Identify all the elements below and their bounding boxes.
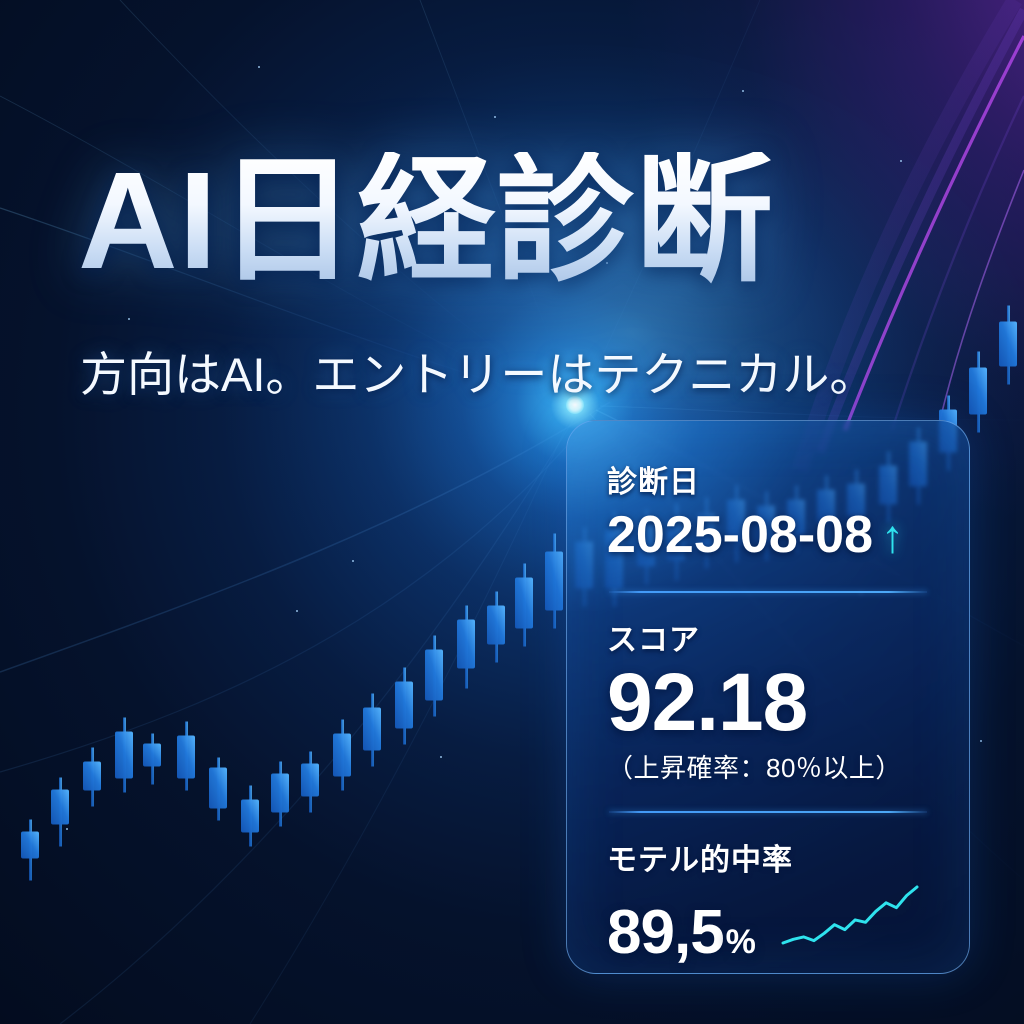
date-label: 診断日 bbox=[607, 457, 929, 501]
page-subtitle: 方向はAI。エントリーはテクニカル。 bbox=[80, 336, 876, 405]
accuracy-unit: % bbox=[726, 923, 755, 961]
accuracy-label: モテル的中率 bbox=[607, 835, 929, 879]
poster-canvas: AI日経診断 方向はAI。エントリーはテクニカル。 診断日 2025-08-08… bbox=[0, 0, 1024, 1024]
accuracy-value-row: 89,5% bbox=[607, 897, 755, 968]
score-label: スコア bbox=[607, 615, 929, 659]
diagnosis-info-card: 診断日 2025-08-08↑ スコア 92.18 （上昇確率：80％以上） モ… bbox=[566, 420, 970, 974]
score-value: 92.18 bbox=[607, 661, 929, 745]
card-divider-1 bbox=[609, 591, 927, 593]
date-value-row: 2025-08-08↑ bbox=[607, 505, 929, 565]
page-title: AI日経診断 bbox=[78, 152, 774, 290]
date-value: 2025-08-08 bbox=[607, 506, 873, 564]
trend-up-arrow-icon: ↑ bbox=[881, 510, 904, 562]
score-section: スコア 92.18 （上昇確率：80％以上） bbox=[607, 615, 929, 786]
accuracy-value: 89,5 bbox=[607, 898, 724, 967]
card-divider-2 bbox=[609, 811, 927, 813]
accuracy-sparkline-chart bbox=[779, 883, 929, 962]
date-section: 診断日 2025-08-08↑ bbox=[607, 457, 929, 565]
score-note: （上昇確率：80％以上） bbox=[607, 748, 929, 785]
accuracy-section: モテル的中率 89,5% bbox=[607, 835, 929, 968]
